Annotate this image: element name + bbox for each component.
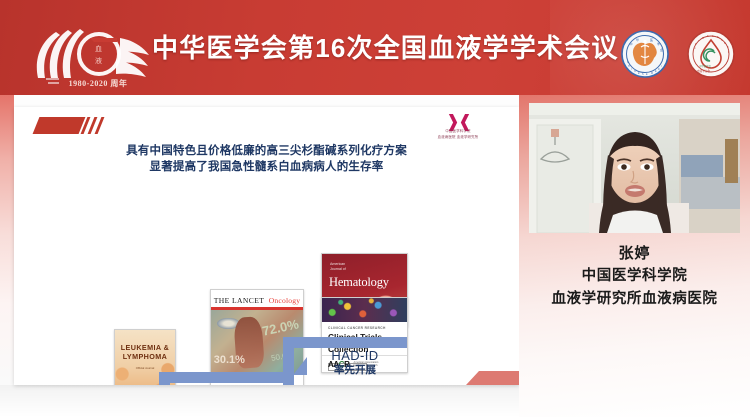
cover-kicker: CLINICAL CANCER RESEARCH	[328, 326, 401, 330]
svg-text:中: 中	[630, 41, 633, 46]
institute-logo-mark: ❱❰	[415, 115, 501, 128]
cover-title: Hematology	[329, 275, 389, 290]
slide-decoration-parallelogram	[33, 117, 86, 134]
speaker-name: 张婷	[519, 243, 750, 265]
cover-artwork	[322, 298, 407, 322]
anniversary-year-label: 1980-2020 周年	[46, 78, 150, 89]
svg-text:S: S	[712, 36, 714, 38]
svg-text:血液学分会: 血液学分会	[697, 69, 710, 73]
cover-title: LEUKEMIA & LYMPHOMA	[119, 343, 171, 361]
cover-subtitle: Official Journal	[123, 366, 167, 370]
svg-text:I: I	[728, 52, 729, 54]
conference-header: 血 液 1980-2020 周年 中华医学会第16次全国血液学学术会议	[0, 0, 750, 95]
svg-text:华: 华	[636, 37, 639, 42]
svg-text:H: H	[695, 44, 697, 46]
presentation-slide[interactable]: ❱❰ 中国医学科学院 血液病医院 血液学研究所 具有中国特色且价格低廉的高三尖杉…	[14, 107, 519, 385]
slide-title: 具有中国特色且价格低廉的高三尖杉酯碱系列化疗方案 显著提高了我国急性髓系白血病病…	[14, 143, 519, 175]
svg-text:中华医学会: 中华医学会	[699, 64, 712, 68]
slide-title-line-1: 具有中国特色且价格低廉的高三尖杉酯碱系列化疗方案	[54, 143, 479, 159]
svg-text:D: D	[658, 69, 660, 71]
speaker-panel: 张婷 中国医学科学院 血液学研究所血液病医院	[519, 95, 750, 417]
svg-text:E: E	[638, 73, 640, 75]
svg-text:I: I	[698, 41, 699, 43]
svg-text:C: C	[694, 48, 696, 50]
slide-decoration-stripes	[79, 117, 110, 134]
svg-text:液: 液	[95, 56, 102, 65]
slide-decoration-corner	[479, 371, 519, 385]
artwork-number-1: 72.0%	[261, 317, 300, 339]
svg-text:S: S	[642, 74, 644, 76]
bottom-gradient-edge	[0, 385, 519, 417]
svg-text:E: E	[717, 37, 719, 39]
speaker-webcam-video[interactable]	[529, 103, 740, 233]
left-gradient-edge	[0, 95, 14, 385]
svg-text:N: N	[634, 71, 636, 73]
anniversary-emblem-icon: 血 液 1980-2020 周年	[22, 26, 152, 88]
cover-masthead: THE LANCET Oncology	[211, 290, 303, 307]
svg-text:H: H	[628, 66, 630, 68]
chinese-medical-association-logo-icon: 中华 医学会 CHI NES EME DI	[620, 29, 670, 79]
svg-text:I: I	[631, 69, 632, 71]
svg-text:C: C	[727, 47, 729, 49]
stair-tread-had-id	[283, 337, 407, 348]
svg-text:M: M	[651, 73, 653, 75]
svg-text:会: 会	[660, 47, 663, 52]
organization-logos: 中华 医学会 CHI NES EME DI	[620, 29, 736, 79]
speaker-org-line-1: 中国医学科学院	[519, 265, 750, 288]
stair-tread-had-a	[159, 372, 293, 383]
svg-text:S: S	[721, 40, 723, 42]
cover-kicker: AmericanJournal of	[330, 262, 346, 271]
chinese-society-of-hematology-logo-icon: CHI NES ESO CI 血液学分会 中华医学会	[686, 29, 736, 79]
svg-text:E: E	[646, 74, 648, 76]
svg-text:O: O	[724, 43, 726, 45]
stair-label-had-id-en: HAD-ID	[300, 348, 410, 363]
svg-text:医: 医	[650, 38, 653, 42]
stair-label-had-id-cn: 率先开展	[300, 364, 410, 377]
svg-text:I: I	[661, 66, 662, 68]
cover-title-part2: Oncology	[269, 296, 301, 305]
svg-text:C: C	[627, 62, 629, 64]
speaker-org-line-2: 血液学研究所血液病医院	[519, 288, 750, 311]
svg-text:E: E	[707, 36, 709, 38]
svg-text:E: E	[655, 71, 657, 73]
svg-text:学: 学	[657, 41, 660, 46]
speaker-info: 张婷 中国医学科学院 血液学研究所血液病医院	[519, 243, 750, 311]
institute-logo-line2: 血液病医院 血液学研究所	[415, 135, 501, 140]
institute-logo-line1: 中国医学科学院	[415, 129, 501, 134]
conference-stream-screen: 血 液 1980-2020 周年 中华医学会第16次全国血液学学术会议	[0, 0, 750, 417]
stair-label-had-id: HAD-ID 率先开展	[300, 348, 410, 377]
page-title: 中华医学会第16次全国血液学学术会议	[152, 28, 619, 65]
svg-text:N: N	[702, 38, 704, 40]
svg-text:血: 血	[95, 44, 102, 53]
artwork-number-3: 30.1%	[214, 354, 245, 366]
cover-title-part1: THE LANCET	[214, 296, 265, 305]
slide-title-line-2: 显著提高了我国急性髓系白血病病人的生存率	[54, 159, 479, 175]
